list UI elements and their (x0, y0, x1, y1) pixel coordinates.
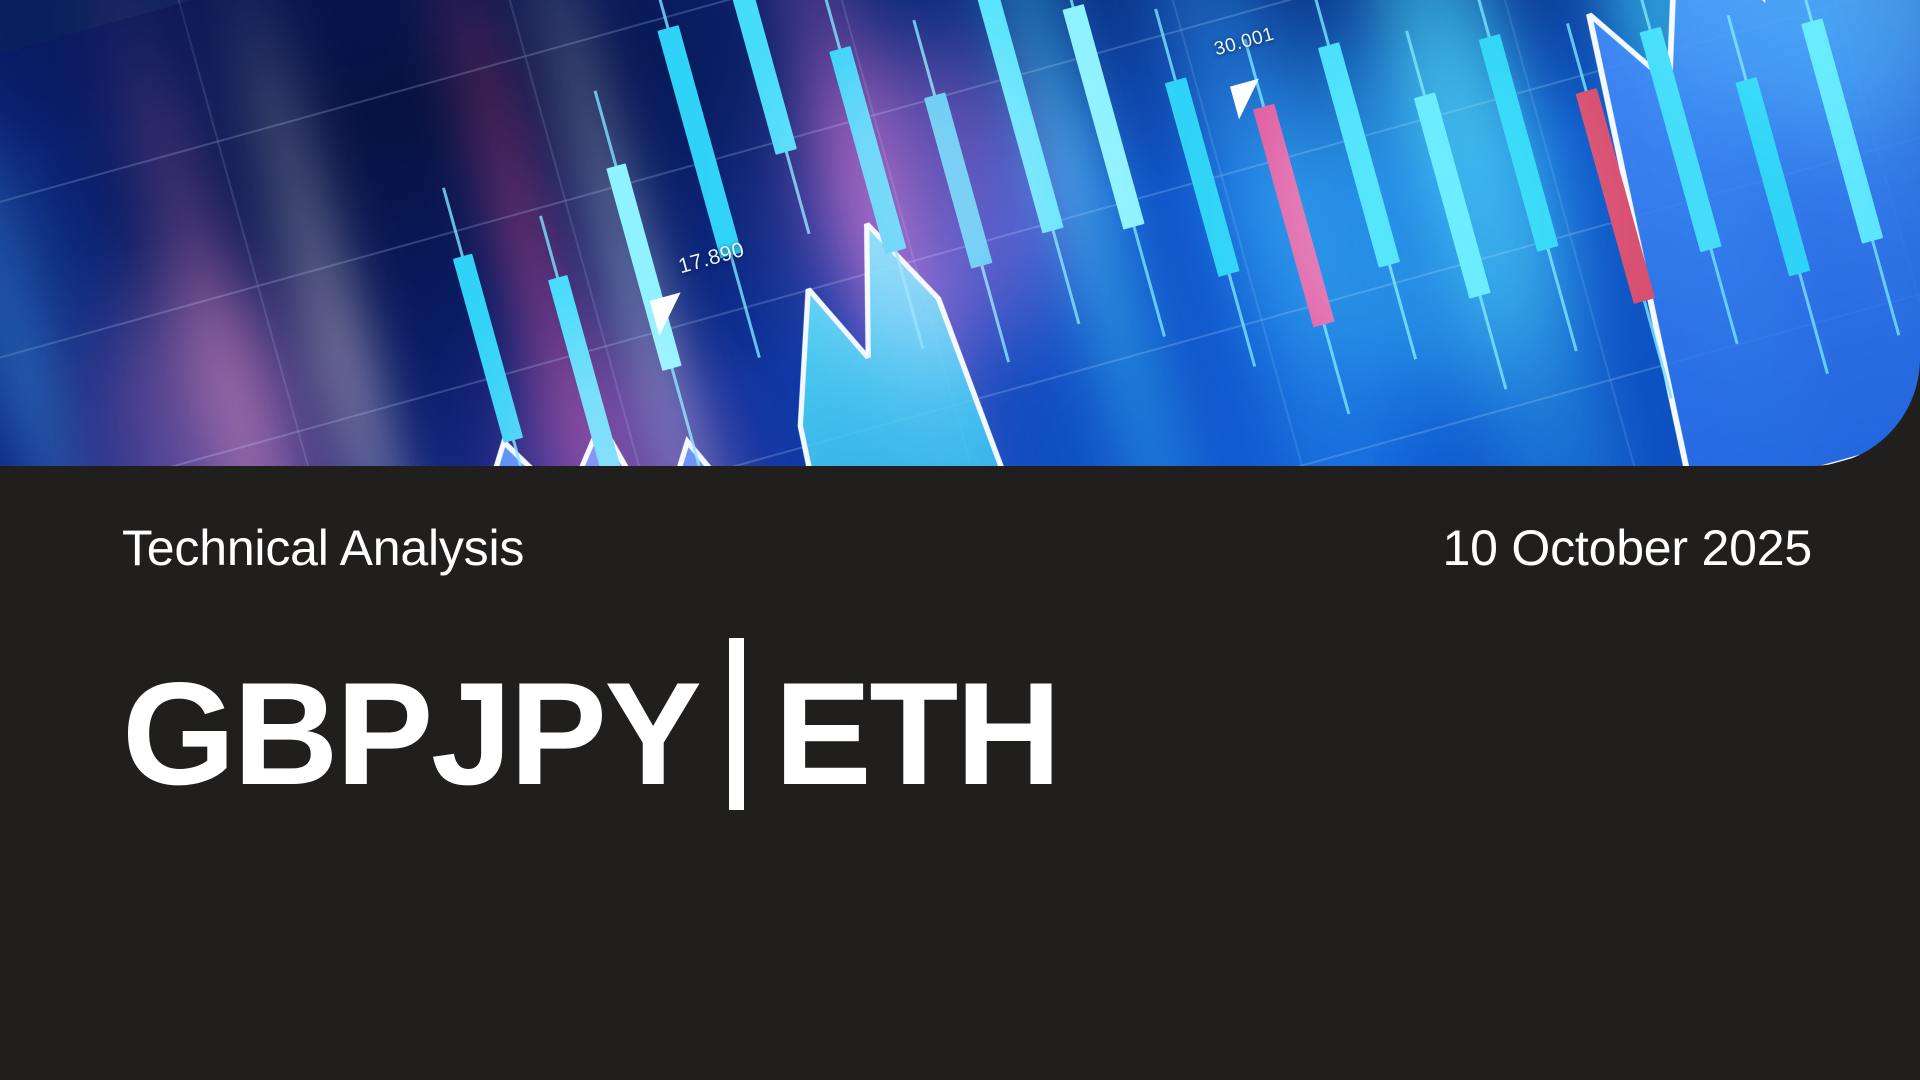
content-panel: Technical Analysis 10 October 2025 GBPJP… (0, 466, 1920, 1080)
price-callout-lower: 17.890 (676, 256, 743, 280)
category-label: Technical Analysis (122, 523, 524, 573)
hero-chart-image: 30.001 17.890 (0, 0, 1920, 466)
hero-bokeh-glow (0, 0, 1920, 466)
price-callout-upper: 30.001 (1212, 40, 1273, 62)
hero-artwork-stage (0, 0, 1920, 466)
technical-analysis-banner: 30.001 17.890 Technical Analysis 10 Octo… (0, 0, 1920, 1080)
publish-date: 10 October 2025 (1443, 523, 1813, 573)
title-instrument-right: ETH (774, 661, 1059, 807)
title-instrument-left: GBPJPY (122, 661, 699, 807)
meta-row: Technical Analysis 10 October 2025 (122, 523, 1812, 573)
title-separator (729, 638, 744, 810)
page-title: GBPJPY ETH (122, 612, 1059, 807)
